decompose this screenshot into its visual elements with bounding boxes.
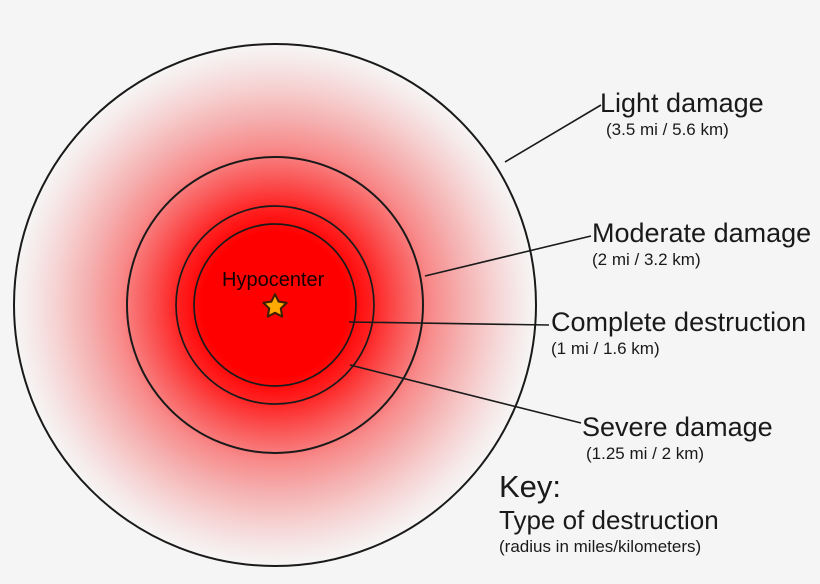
callout-title-light-damage: Light damage <box>600 88 764 118</box>
blast-radius-diagram: Hypocenter Light damage (3.5 mi / 5.6 km… <box>0 0 820 584</box>
callout-light-damage: Light damage (3.5 mi / 5.6 km) <box>600 88 764 140</box>
key-heading: Key: <box>499 469 719 505</box>
hypocenter-label: Hypocenter <box>222 268 324 292</box>
key-note: (radius in miles/kilometers) <box>499 536 719 557</box>
key-legend: Key: Type of destruction (radius in mile… <box>499 469 719 557</box>
callout-complete-destruction: Complete destruction (1 mi / 1.6 km) <box>551 307 806 359</box>
callout-radius-complete-destruction: (1 mi / 1.6 km) <box>551 339 806 359</box>
callout-title-moderate-damage: Moderate damage <box>592 218 811 248</box>
callout-radius-moderate-damage: (2 mi / 3.2 km) <box>592 250 811 270</box>
callout-severe-damage: Severe damage (1.25 mi / 2 km) <box>582 412 773 464</box>
callout-radius-severe-damage: (1.25 mi / 2 km) <box>586 444 773 464</box>
callout-moderate-damage: Moderate damage (2 mi / 3.2 km) <box>592 218 811 270</box>
callout-radius-light-damage: (3.5 mi / 5.6 km) <box>606 120 764 140</box>
leader-line-light-damage <box>505 105 601 162</box>
key-type-line: Type of destruction <box>499 505 719 536</box>
callout-title-severe-damage: Severe damage <box>582 412 773 442</box>
callout-title-complete-destruction: Complete destruction <box>551 307 806 337</box>
